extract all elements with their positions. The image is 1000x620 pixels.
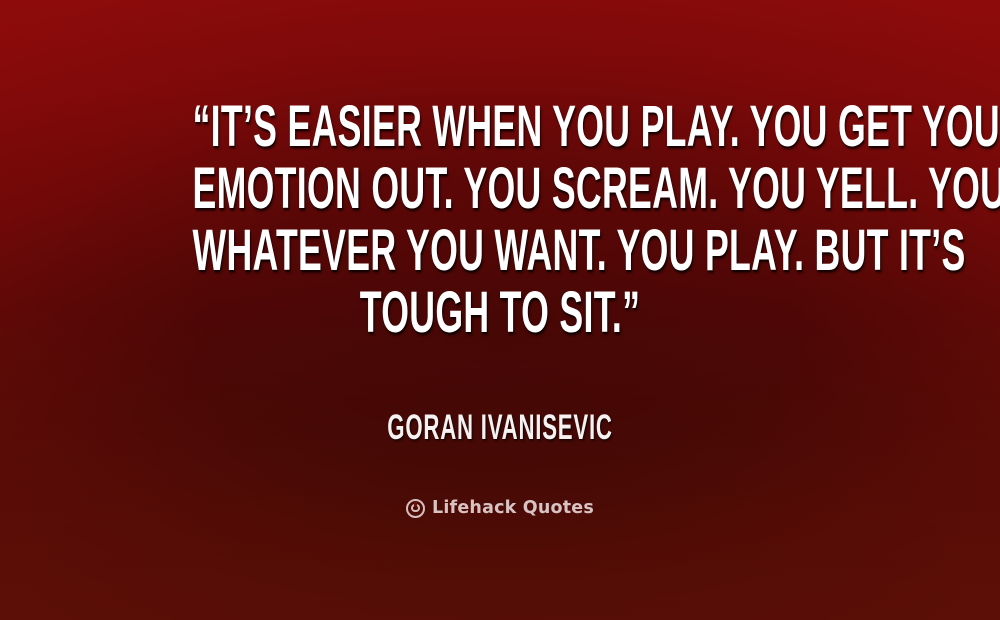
quote-text-block: “IT’S EASIER WHEN YOU PLAY. YOU GET YOUR…	[0, 96, 1000, 344]
lifehack-circle-logo-icon	[406, 499, 425, 518]
quote-line-3: WHATEVER YOU WANT. YOU PLAY. BUT IT’S	[193, 220, 808, 282]
quote-line-4: TOUGH TO SIT.”	[193, 282, 808, 344]
quote-line-1: “IT’S EASIER WHEN YOU PLAY. YOU GET YOUR	[193, 96, 808, 158]
quote-line-2: EMOTION OUT. YOU SCREAM. YOU YELL. YOU D…	[193, 158, 808, 220]
brand-name: Lifehack Quotes	[432, 498, 594, 518]
branding: Lifehack Quotes	[0, 498, 1000, 518]
quote-card: “IT’S EASIER WHEN YOU PLAY. YOU GET YOUR…	[0, 0, 1000, 620]
quote-author: GORAN IVANISEVIC	[183, 408, 818, 448]
